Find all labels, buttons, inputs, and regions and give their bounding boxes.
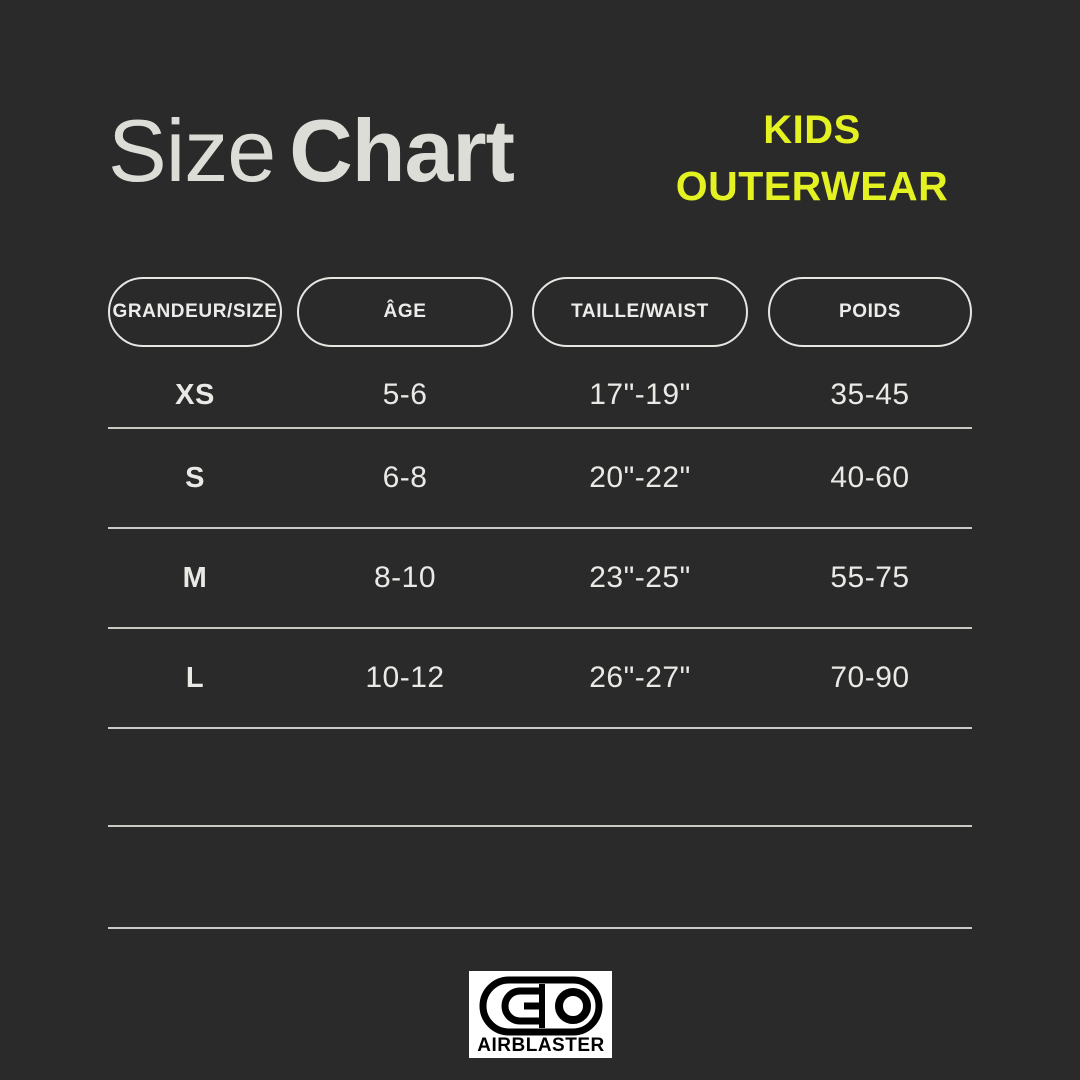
cell-waist: 23"-25"	[532, 561, 748, 595]
cell-waist: 20"-22"	[532, 461, 748, 495]
cell-weight: 35-45	[768, 378, 972, 412]
cell-age: 10-12	[297, 661, 513, 695]
table-row: L 10-12 26"-27" 70-90	[108, 629, 972, 729]
airblaster-logo: AIRBLASTER	[469, 971, 612, 1058]
table-row: S 6-8 20"-22" 40-60	[108, 429, 972, 529]
table-row: M 8-10 23"-25" 55-75	[108, 529, 972, 629]
cell-size: XS	[108, 379, 282, 412]
category-line-1: KIDS	[652, 102, 972, 158]
cell-size: S	[108, 462, 282, 495]
size-chart-page: SizeChart KIDS OUTERWEAR GRANDEUR/SIZE Â…	[0, 0, 1080, 1080]
page-title-bold: Chart	[289, 101, 514, 200]
cell-weight: 40-60	[768, 461, 972, 495]
column-header-size: GRANDEUR/SIZE	[108, 277, 282, 347]
page-header: SizeChart KIDS OUTERWEAR	[108, 96, 972, 216]
table-row	[108, 827, 972, 929]
page-title: SizeChart	[108, 96, 514, 206]
airblaster-wordmark: AIRBLASTER	[477, 1035, 604, 1055]
cell-waist: 26"-27"	[532, 661, 748, 695]
cell-waist: 17"-19"	[532, 378, 748, 412]
size-table: GRANDEUR/SIZE ÂGE TAILLE/WAIST POIDS XS …	[108, 277, 972, 929]
category-label: KIDS OUTERWEAR	[652, 102, 972, 214]
cell-size: L	[108, 662, 282, 695]
column-header-age: ÂGE	[297, 277, 513, 347]
cell-weight: 70-90	[768, 661, 972, 695]
category-line-2: OUTERWEAR	[652, 158, 972, 214]
cell-weight: 55-75	[768, 561, 972, 595]
airblaster-capsule-icon: AIRBLASTER	[476, 975, 606, 1055]
column-header-waist: TAILLE/WAIST	[532, 277, 748, 347]
cell-size: M	[108, 562, 282, 595]
cell-age: 5-6	[297, 378, 513, 412]
column-header-weight: POIDS	[768, 277, 972, 347]
table-body: XS 5-6 17"-19" 35-45 S 6-8 20"-22" 40-60…	[108, 347, 972, 929]
table-row: XS 5-6 17"-19" 35-45	[108, 347, 972, 429]
table-header-row: GRANDEUR/SIZE ÂGE TAILLE/WAIST POIDS	[108, 277, 972, 347]
cell-age: 6-8	[297, 461, 513, 495]
page-title-light: Size	[108, 101, 275, 200]
table-row	[108, 729, 972, 827]
cell-age: 8-10	[297, 561, 513, 595]
